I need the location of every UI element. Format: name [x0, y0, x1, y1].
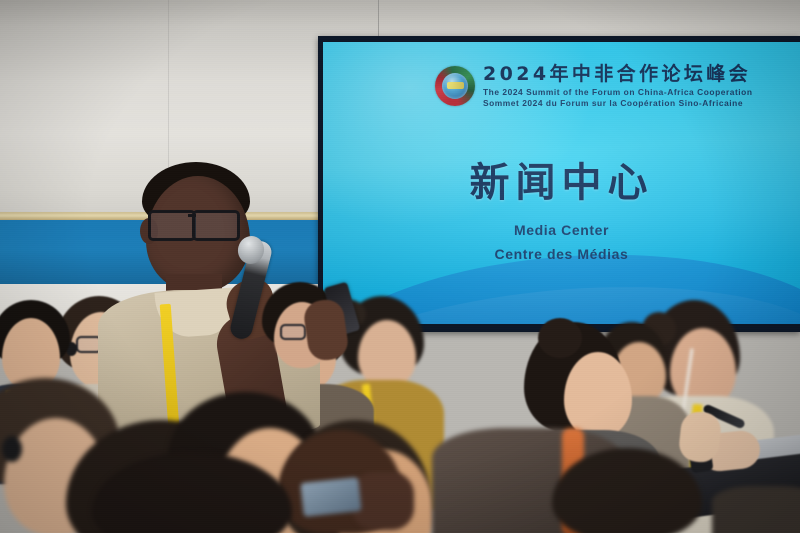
foreground-shoulder-right	[712, 486, 800, 533]
glasses-bridge	[188, 214, 196, 217]
presentation-display: 2024年中非合作论坛峰会 The 2024 Summit of the For…	[318, 36, 800, 332]
foreground-arm-with-phone	[302, 464, 422, 533]
torso	[712, 486, 800, 533]
press-conference-photo: 2024年中非合作论坛峰会 The 2024 Summit of the For…	[0, 0, 800, 533]
hair	[552, 448, 702, 533]
face	[564, 352, 632, 438]
hair-bun	[538, 318, 582, 358]
earbud-icon	[2, 436, 22, 462]
foreground-head-8	[92, 452, 292, 533]
foreground-head-7	[552, 448, 712, 533]
screen-vignette	[323, 42, 800, 324]
face	[358, 320, 416, 388]
hand	[352, 472, 414, 530]
hair	[92, 452, 292, 533]
glasses-icon	[280, 324, 306, 340]
display-screen: 2024年中非合作论坛峰会 The 2024 Summit of the For…	[323, 42, 800, 324]
glasses-icon	[192, 210, 240, 241]
smartphone-icon	[300, 477, 361, 517]
